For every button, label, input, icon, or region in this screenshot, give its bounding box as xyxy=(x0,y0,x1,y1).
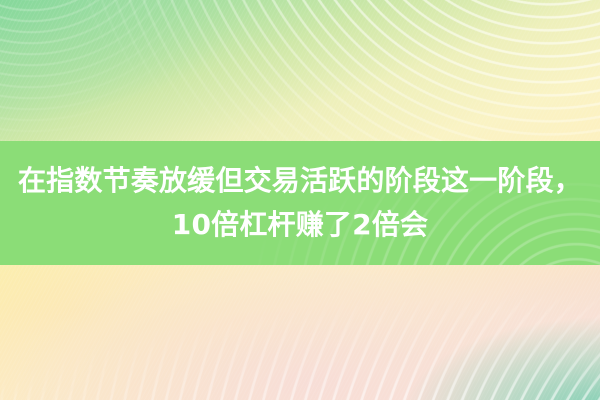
headline-band: 在指数节奏放缓但交易活跃的阶段这一阶段，10倍杠杆赚了2倍会 xyxy=(0,141,600,265)
promo-banner: 在指数节奏放缓但交易活跃的阶段这一阶段，10倍杠杆赚了2倍会 xyxy=(0,0,600,400)
headline-text: 在指数节奏放缓但交易活跃的阶段这一阶段，10倍杠杆赚了2倍会 xyxy=(0,159,600,247)
